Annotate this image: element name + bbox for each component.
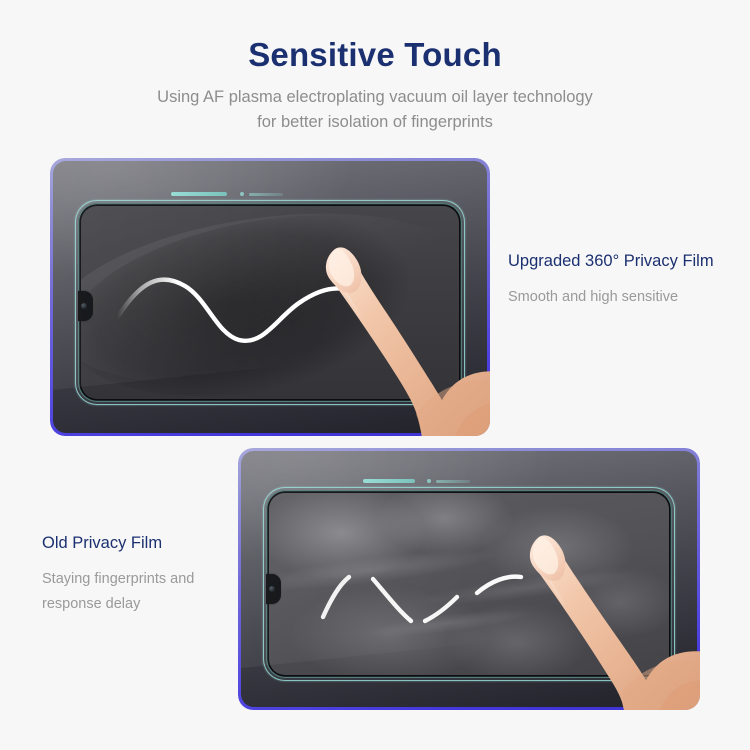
- page-title: Sensitive Touch: [0, 0, 750, 74]
- speaker-grille-icon: [249, 193, 283, 196]
- page-subtitle: Using AF plasma electroplating vacuum oi…: [0, 74, 750, 135]
- page-subtitle-line-2: for better isolation of fingerprints: [0, 110, 750, 135]
- upgraded-privacy-film-phone: [50, 158, 490, 436]
- proximity-sensor-icon: [240, 192, 244, 196]
- callout-upgraded-subtitle: Smooth and high sensitive: [508, 271, 714, 310]
- callout-old-subtitle: Staying fingerprints and response delay: [42, 553, 194, 617]
- header: Sensitive Touch Using AF plasma electrop…: [0, 0, 750, 135]
- earpiece-speaker-icon: [171, 192, 227, 196]
- pointing-finger-icon: [506, 532, 700, 710]
- front-camera-icon: [81, 303, 87, 309]
- callout-upgraded-title: Upgraded 360° Privacy Film: [508, 252, 714, 271]
- page-subtitle-line-1: Using AF plasma electroplating vacuum oi…: [0, 85, 750, 110]
- old-privacy-film-phone: [238, 448, 700, 710]
- waterdrop-notch-icon: [266, 574, 281, 604]
- proximity-sensor-icon: [427, 479, 431, 483]
- callout-old-subtitle-line-1: Staying fingerprints and: [42, 567, 194, 592]
- callout-old-subtitle-line-2: response delay: [42, 592, 194, 617]
- callout-upgraded-privacy-film: Upgraded 360° Privacy Film Smooth and hi…: [508, 252, 714, 310]
- front-camera-icon: [269, 586, 275, 592]
- waterdrop-notch-icon: [78, 291, 93, 321]
- callout-old-privacy-film: Old Privacy Film Staying fingerprints an…: [42, 534, 194, 617]
- earpiece-speaker-icon: [363, 479, 415, 483]
- pointing-finger-icon: [302, 244, 490, 436]
- callout-old-title: Old Privacy Film: [42, 534, 194, 553]
- speaker-grille-icon: [436, 480, 470, 483]
- callout-upgraded-subtitle-line-1: Smooth and high sensitive: [508, 285, 714, 310]
